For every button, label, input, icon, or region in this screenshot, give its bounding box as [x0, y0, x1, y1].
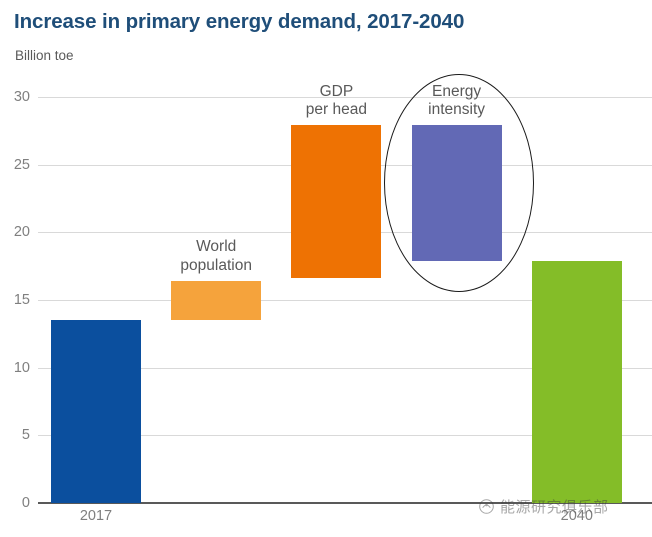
y-axis-tick-label: 30 — [0, 89, 30, 105]
y-axis-tick-label: 5 — [0, 427, 30, 443]
bar-label-energy-intensity: Energy intensity — [428, 83, 485, 120]
x-axis-tick-label: 2017 — [80, 508, 112, 524]
x-axis-tick-label: 2040 — [561, 508, 593, 524]
y-axis-tick-label: 15 — [0, 292, 30, 308]
chart-canvas: Increase in primary energy demand, 2017-… — [0, 0, 652, 537]
plot-area: 0510152025302017World populationGDP per … — [0, 0, 652, 537]
bar-label-world-population: World population — [180, 238, 252, 275]
y-axis-tick-label: 25 — [0, 157, 30, 173]
y-axis-tick-label: 20 — [0, 224, 30, 240]
bar-world-population[interactable] — [171, 281, 261, 320]
bar-label-gdp-per-head: GDP per head — [306, 83, 367, 120]
bar-2040[interactable] — [532, 261, 622, 503]
bar-2017[interactable] — [51, 320, 141, 503]
y-axis-tick-label: 10 — [0, 360, 30, 376]
bar-energy-intensity[interactable] — [412, 125, 502, 260]
bar-gdp-per-head[interactable] — [291, 125, 381, 278]
y-axis-tick-label: 0 — [0, 495, 30, 511]
